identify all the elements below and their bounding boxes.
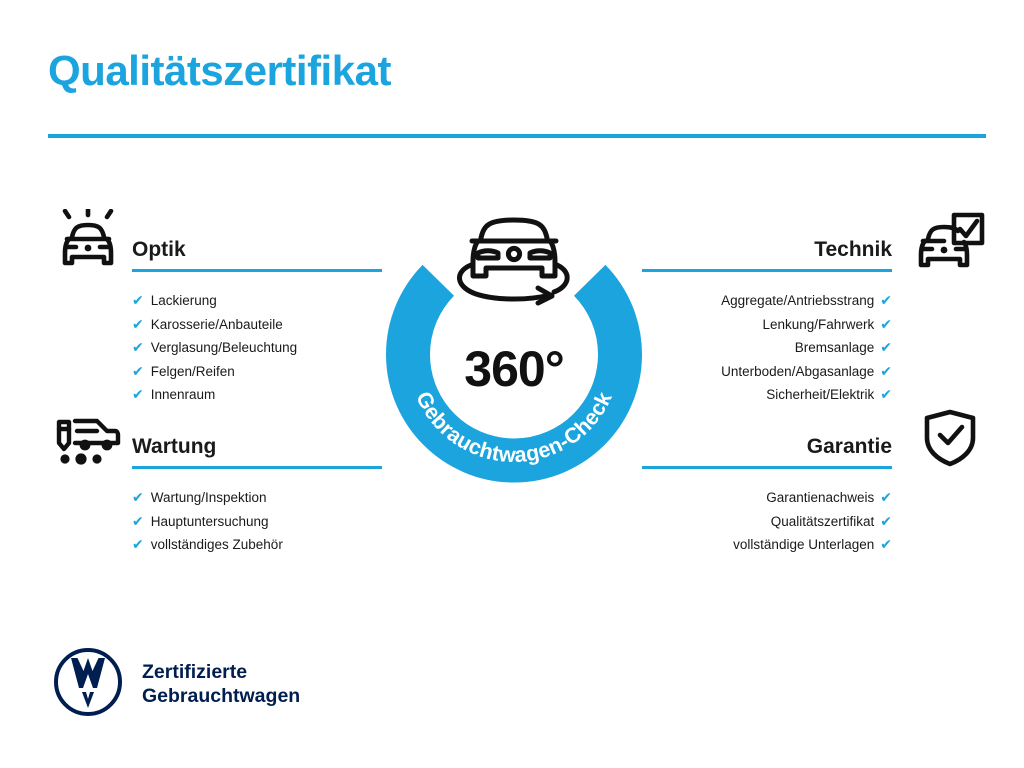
section-list-wartung: ✔Wartung/Inspektion ✔Hauptuntersuchung ✔…: [132, 486, 382, 557]
list-item-label: Bremsanlage: [795, 336, 875, 360]
car-shine-icon: [48, 205, 128, 277]
list-item: ✔vollständiges Zubehör: [132, 533, 382, 557]
list-item: Qualitätszertifikat✔: [642, 510, 892, 534]
car-checkbox-icon: [910, 205, 990, 277]
list-item: ✔Hauptuntersuchung: [132, 510, 382, 534]
check-icon: ✔: [132, 537, 144, 551]
list-item-label: Karosserie/Anbauteile: [151, 313, 283, 337]
list-item-label: vollständiges Zubehör: [151, 533, 283, 557]
vw-logo-icon: [52, 646, 124, 723]
list-item: Garantienachweis✔: [642, 486, 892, 510]
section-heading-wartung: Wartung: [132, 436, 382, 457]
certificate-page: Qualitätszertifikat Optik ✔Lack: [0, 0, 1024, 768]
section-heading-garantie: Garantie: [642, 436, 892, 457]
badge-degrees: 360°: [378, 344, 650, 394]
vw-footer-line1: Zertifizierte: [142, 661, 247, 683]
check-icon: ✔: [132, 340, 144, 354]
header-divider: [48, 134, 986, 138]
list-item: Bremsanlage✔: [642, 336, 892, 360]
check-icon: ✔: [880, 364, 892, 378]
section-underline-optik: [132, 269, 382, 272]
check-icon: ✔: [880, 293, 892, 307]
section-list-garantie: Garantienachweis✔ Qualitätszertifikat✔ v…: [642, 486, 892, 557]
list-item: ✔Verglasung/Beleuchtung: [132, 336, 382, 360]
list-item-label: Felgen/Reifen: [151, 360, 235, 384]
shield-check-icon: [910, 402, 990, 474]
list-item-label: Hauptuntersuchung: [151, 510, 269, 534]
check-icon: ✔: [880, 340, 892, 354]
check-icon: ✔: [880, 490, 892, 504]
section-list-optik: ✔Lackierung ✔Karosserie/Anbauteile ✔Verg…: [132, 289, 382, 407]
section-heading-optik: Optik: [132, 239, 382, 260]
section-heading-technik: Technik: [642, 239, 892, 260]
car-pen-icon: [48, 402, 128, 474]
section-list-technik: Aggregate/Antriebsstrang✔ Lenkung/Fahrwe…: [642, 289, 892, 407]
list-item: ✔Wartung/Inspektion: [132, 486, 382, 510]
list-item: ✔Felgen/Reifen: [132, 360, 382, 384]
list-item-label: Unterboden/Abgasanlage: [721, 360, 874, 384]
list-item: Unterboden/Abgasanlage✔: [642, 360, 892, 384]
check-icon: ✔: [132, 387, 144, 401]
list-item: vollständige Unterlagen✔: [642, 533, 892, 557]
check-icon: ✔: [880, 514, 892, 528]
list-item: ✔Innenraum: [132, 383, 382, 407]
list-item-label: vollständige Unterlagen: [733, 533, 874, 557]
list-item-label: Sicherheit/Elektrik: [766, 383, 874, 407]
check-icon: ✔: [132, 514, 144, 528]
list-item-label: Garantienachweis: [766, 486, 874, 510]
section-underline-technik: [642, 269, 892, 272]
section-underline-garantie: [642, 466, 892, 469]
vw-footer-line2: Gebrauchtwagen: [142, 685, 300, 707]
list-item-label: Wartung/Inspektion: [151, 486, 267, 510]
check-icon: ✔: [880, 317, 892, 331]
check-icon: ✔: [880, 387, 892, 401]
section-underline-wartung: [132, 466, 382, 469]
list-item: Sicherheit/Elektrik✔: [642, 383, 892, 407]
check-icon: ✔: [132, 293, 144, 307]
check-icon: ✔: [132, 317, 144, 331]
badge-360-check: Gebrauchtwagen-Check: [378, 196, 650, 486]
list-item-label: Lenkung/Fahrwerk: [762, 313, 874, 337]
list-item-label: Innenraum: [151, 383, 216, 407]
vw-footer-text: Zertifizierte Gebrauchtwagen: [142, 660, 300, 708]
list-item-label: Qualitätszertifikat: [771, 510, 875, 534]
list-item: Aggregate/Antriebsstrang✔: [642, 289, 892, 313]
list-item-label: Verglasung/Beleuchtung: [151, 336, 297, 360]
check-icon: ✔: [132, 364, 144, 378]
page-title: Qualitätszertifikat: [48, 48, 391, 94]
list-item: ✔Karosserie/Anbauteile: [132, 313, 382, 337]
list-item-label: Lackierung: [151, 289, 217, 313]
vw-footer-logo: Zertifizierte Gebrauchtwagen: [52, 646, 300, 722]
list-item: ✔Lackierung: [132, 289, 382, 313]
list-item: Lenkung/Fahrwerk✔: [642, 313, 892, 337]
check-icon: ✔: [880, 537, 892, 551]
check-icon: ✔: [132, 490, 144, 504]
list-item-label: Aggregate/Antriebsstrang: [721, 289, 874, 313]
